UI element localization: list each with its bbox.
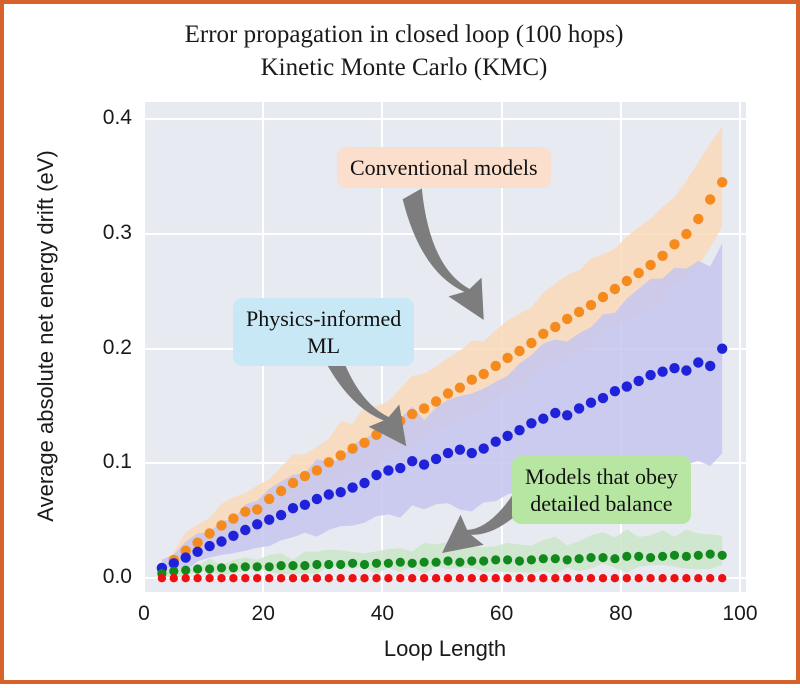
data-point [657, 367, 667, 377]
data-point [503, 574, 511, 582]
data-point [241, 574, 249, 582]
data-point [181, 566, 190, 575]
x-axis-label: Loop Length [144, 636, 746, 662]
x-tick-label-0: 0 [114, 602, 174, 626]
x-tick-label-4: 80 [591, 602, 651, 626]
data-point [718, 574, 726, 582]
data-point [538, 329, 548, 339]
data-point [288, 478, 298, 488]
data-point [324, 560, 333, 569]
data-point [419, 459, 429, 469]
data-point [610, 554, 619, 563]
data-point [348, 574, 356, 582]
data-point [253, 562, 262, 571]
data-point [634, 376, 644, 386]
data-point [216, 520, 226, 530]
x-tick-label-3: 60 [472, 602, 532, 626]
data-point [670, 574, 678, 582]
data-point [610, 284, 620, 294]
data-point [431, 396, 441, 406]
data-point [563, 574, 571, 582]
data-point [443, 556, 452, 565]
x-tick-label-1: 20 [233, 602, 293, 626]
data-point [170, 574, 178, 582]
y-tick-label-3: 0.3 [62, 221, 132, 245]
data-point [502, 431, 512, 441]
data-point [622, 552, 631, 561]
data-point [492, 574, 500, 582]
data-point [205, 564, 214, 573]
data-point [574, 307, 584, 317]
y-tick-label-0: 0.0 [62, 565, 132, 589]
data-point [301, 574, 309, 582]
data-point [384, 574, 392, 582]
data-point [383, 423, 393, 433]
data-point [455, 558, 464, 567]
data-point [563, 555, 572, 564]
data-point [288, 561, 297, 570]
data-point [599, 574, 607, 582]
x-tick-label-5: 100 [710, 602, 770, 626]
data-point [646, 574, 654, 582]
data-point [670, 551, 679, 560]
data-point [431, 454, 441, 464]
data-point [706, 550, 715, 559]
data-point [610, 386, 620, 396]
data-point [265, 562, 274, 571]
data-point [252, 519, 262, 529]
data-point [240, 507, 250, 517]
annotation-detailed-balance: Models that obey detailed balance [512, 456, 691, 524]
data-point [300, 471, 310, 481]
data-point [467, 556, 476, 565]
data-point [444, 574, 452, 582]
data-point [634, 268, 644, 278]
data-point [395, 463, 405, 473]
data-point [586, 398, 596, 408]
data-point [383, 465, 393, 475]
data-point [527, 574, 535, 582]
data-point [491, 437, 501, 447]
data-point [313, 574, 321, 582]
data-point [372, 574, 380, 582]
data-point [515, 556, 524, 565]
data-point [539, 554, 548, 563]
data-point [682, 552, 691, 561]
data-point [645, 370, 655, 380]
data-point [289, 574, 297, 582]
data-point [241, 562, 250, 571]
data-point [539, 574, 547, 582]
data-point [407, 409, 417, 419]
data-point [456, 574, 464, 582]
data-point [347, 482, 357, 492]
data-point [681, 365, 691, 375]
data-point [658, 552, 667, 561]
data-point [502, 353, 512, 363]
data-point [277, 574, 285, 582]
data-point [693, 357, 703, 367]
data-point [324, 457, 334, 467]
data-point [229, 574, 237, 582]
data-point [551, 574, 559, 582]
annotation-conventional-models: Conventional models [337, 147, 551, 188]
data-point [288, 503, 298, 513]
data-point [265, 574, 273, 582]
data-point [658, 574, 666, 582]
data-point [575, 554, 584, 563]
data-point [587, 574, 595, 582]
data-point [336, 560, 345, 569]
data-point [515, 574, 523, 582]
data-point [491, 361, 501, 371]
data-point [598, 393, 608, 403]
data-point [634, 552, 643, 561]
data-point [240, 525, 250, 535]
data-point [204, 541, 214, 551]
data-point [337, 574, 345, 582]
y-tick-label-2: 0.2 [62, 336, 132, 360]
figure-container: Error propagation in closed loop (100 ho… [0, 0, 800, 684]
data-point [468, 574, 476, 582]
data-point [182, 574, 190, 582]
data-point [276, 486, 286, 496]
data-point [325, 574, 333, 582]
data-point [419, 403, 429, 413]
data-point [526, 418, 536, 428]
data-point [312, 494, 322, 504]
data-point [253, 574, 261, 582]
x-tick-label-2: 40 [352, 602, 412, 626]
data-point [455, 383, 465, 393]
data-point [252, 504, 262, 514]
data-point [718, 551, 727, 560]
data-point [514, 346, 524, 356]
data-point [455, 445, 465, 455]
data-point [622, 381, 632, 391]
data-point [693, 214, 703, 224]
data-point [396, 558, 405, 567]
data-point [277, 561, 286, 570]
data-point [264, 494, 274, 504]
y-tick-label-1: 0.1 [62, 450, 132, 474]
data-point [705, 361, 715, 371]
data-point [562, 314, 572, 324]
data-point [408, 559, 417, 568]
data-point [324, 489, 334, 499]
data-point [635, 574, 643, 582]
data-point [538, 414, 548, 424]
data-point [491, 555, 500, 564]
data-point [467, 448, 477, 458]
data-point [550, 322, 560, 332]
data-point [359, 478, 369, 488]
data-point [336, 450, 346, 460]
annotation-physics-informed-ml: Physics-informed ML [233, 298, 414, 366]
data-point [443, 448, 453, 458]
data-point [682, 574, 690, 582]
data-point [396, 574, 404, 582]
data-point [181, 552, 191, 562]
data-point [562, 410, 572, 420]
data-point [158, 574, 166, 582]
data-point [514, 425, 524, 435]
data-point [312, 465, 322, 475]
data-point [681, 229, 691, 239]
data-point [276, 510, 286, 520]
data-point [407, 456, 417, 466]
data-point [575, 574, 583, 582]
data-point [717, 177, 727, 187]
data-point [669, 239, 679, 249]
data-point [467, 375, 477, 385]
data-point [611, 574, 619, 582]
data-point [348, 559, 357, 568]
data-point [479, 369, 489, 379]
data-point [371, 470, 381, 480]
data-point [717, 344, 727, 354]
data-point [300, 561, 309, 570]
data-point [598, 553, 607, 562]
data-point [479, 443, 489, 453]
data-point [705, 194, 715, 204]
data-point [420, 574, 428, 582]
data-point [432, 574, 440, 582]
data-point [622, 276, 632, 286]
data-point [598, 292, 608, 302]
data-point [408, 574, 416, 582]
data-point [623, 574, 631, 582]
data-point [347, 443, 357, 453]
y-tick-label-4: 0.4 [62, 106, 132, 130]
data-point [479, 556, 488, 565]
data-point [228, 531, 238, 541]
data-point [372, 559, 381, 568]
data-point [503, 555, 512, 564]
data-point [646, 553, 655, 562]
data-point [229, 563, 238, 572]
data-point [420, 558, 429, 567]
data-point [264, 515, 274, 525]
data-point [228, 513, 238, 523]
data-point [586, 553, 595, 562]
data-point [192, 538, 202, 548]
data-point [586, 300, 596, 310]
data-point [645, 260, 655, 270]
data-point [360, 560, 369, 569]
data-point [360, 574, 368, 582]
data-point [359, 438, 369, 448]
data-point [204, 528, 214, 538]
data-point [443, 388, 453, 398]
chart-title: Error propagation in closed loop (100 ho… [4, 18, 800, 84]
data-point [706, 574, 714, 582]
data-point [657, 251, 667, 261]
data-point [312, 560, 321, 569]
data-point [384, 559, 393, 568]
data-point [480, 574, 488, 582]
data-point [551, 554, 560, 563]
data-point [694, 574, 702, 582]
data-point [192, 547, 202, 557]
data-point [432, 558, 441, 567]
data-point [217, 574, 225, 582]
data-point [550, 408, 560, 418]
data-point [371, 430, 381, 440]
data-point [574, 403, 584, 413]
data-point [300, 500, 310, 510]
data-point [395, 416, 405, 426]
data-point [527, 555, 536, 564]
data-point [217, 563, 226, 572]
data-point [193, 564, 202, 573]
data-point [216, 536, 226, 546]
data-point [526, 338, 536, 348]
data-point [336, 487, 346, 497]
data-point [669, 363, 679, 373]
data-point [205, 574, 213, 582]
y-axis-label: Average absolute net energy drift (eV) [33, 121, 59, 551]
data-point [694, 551, 703, 560]
data-point [193, 574, 201, 582]
